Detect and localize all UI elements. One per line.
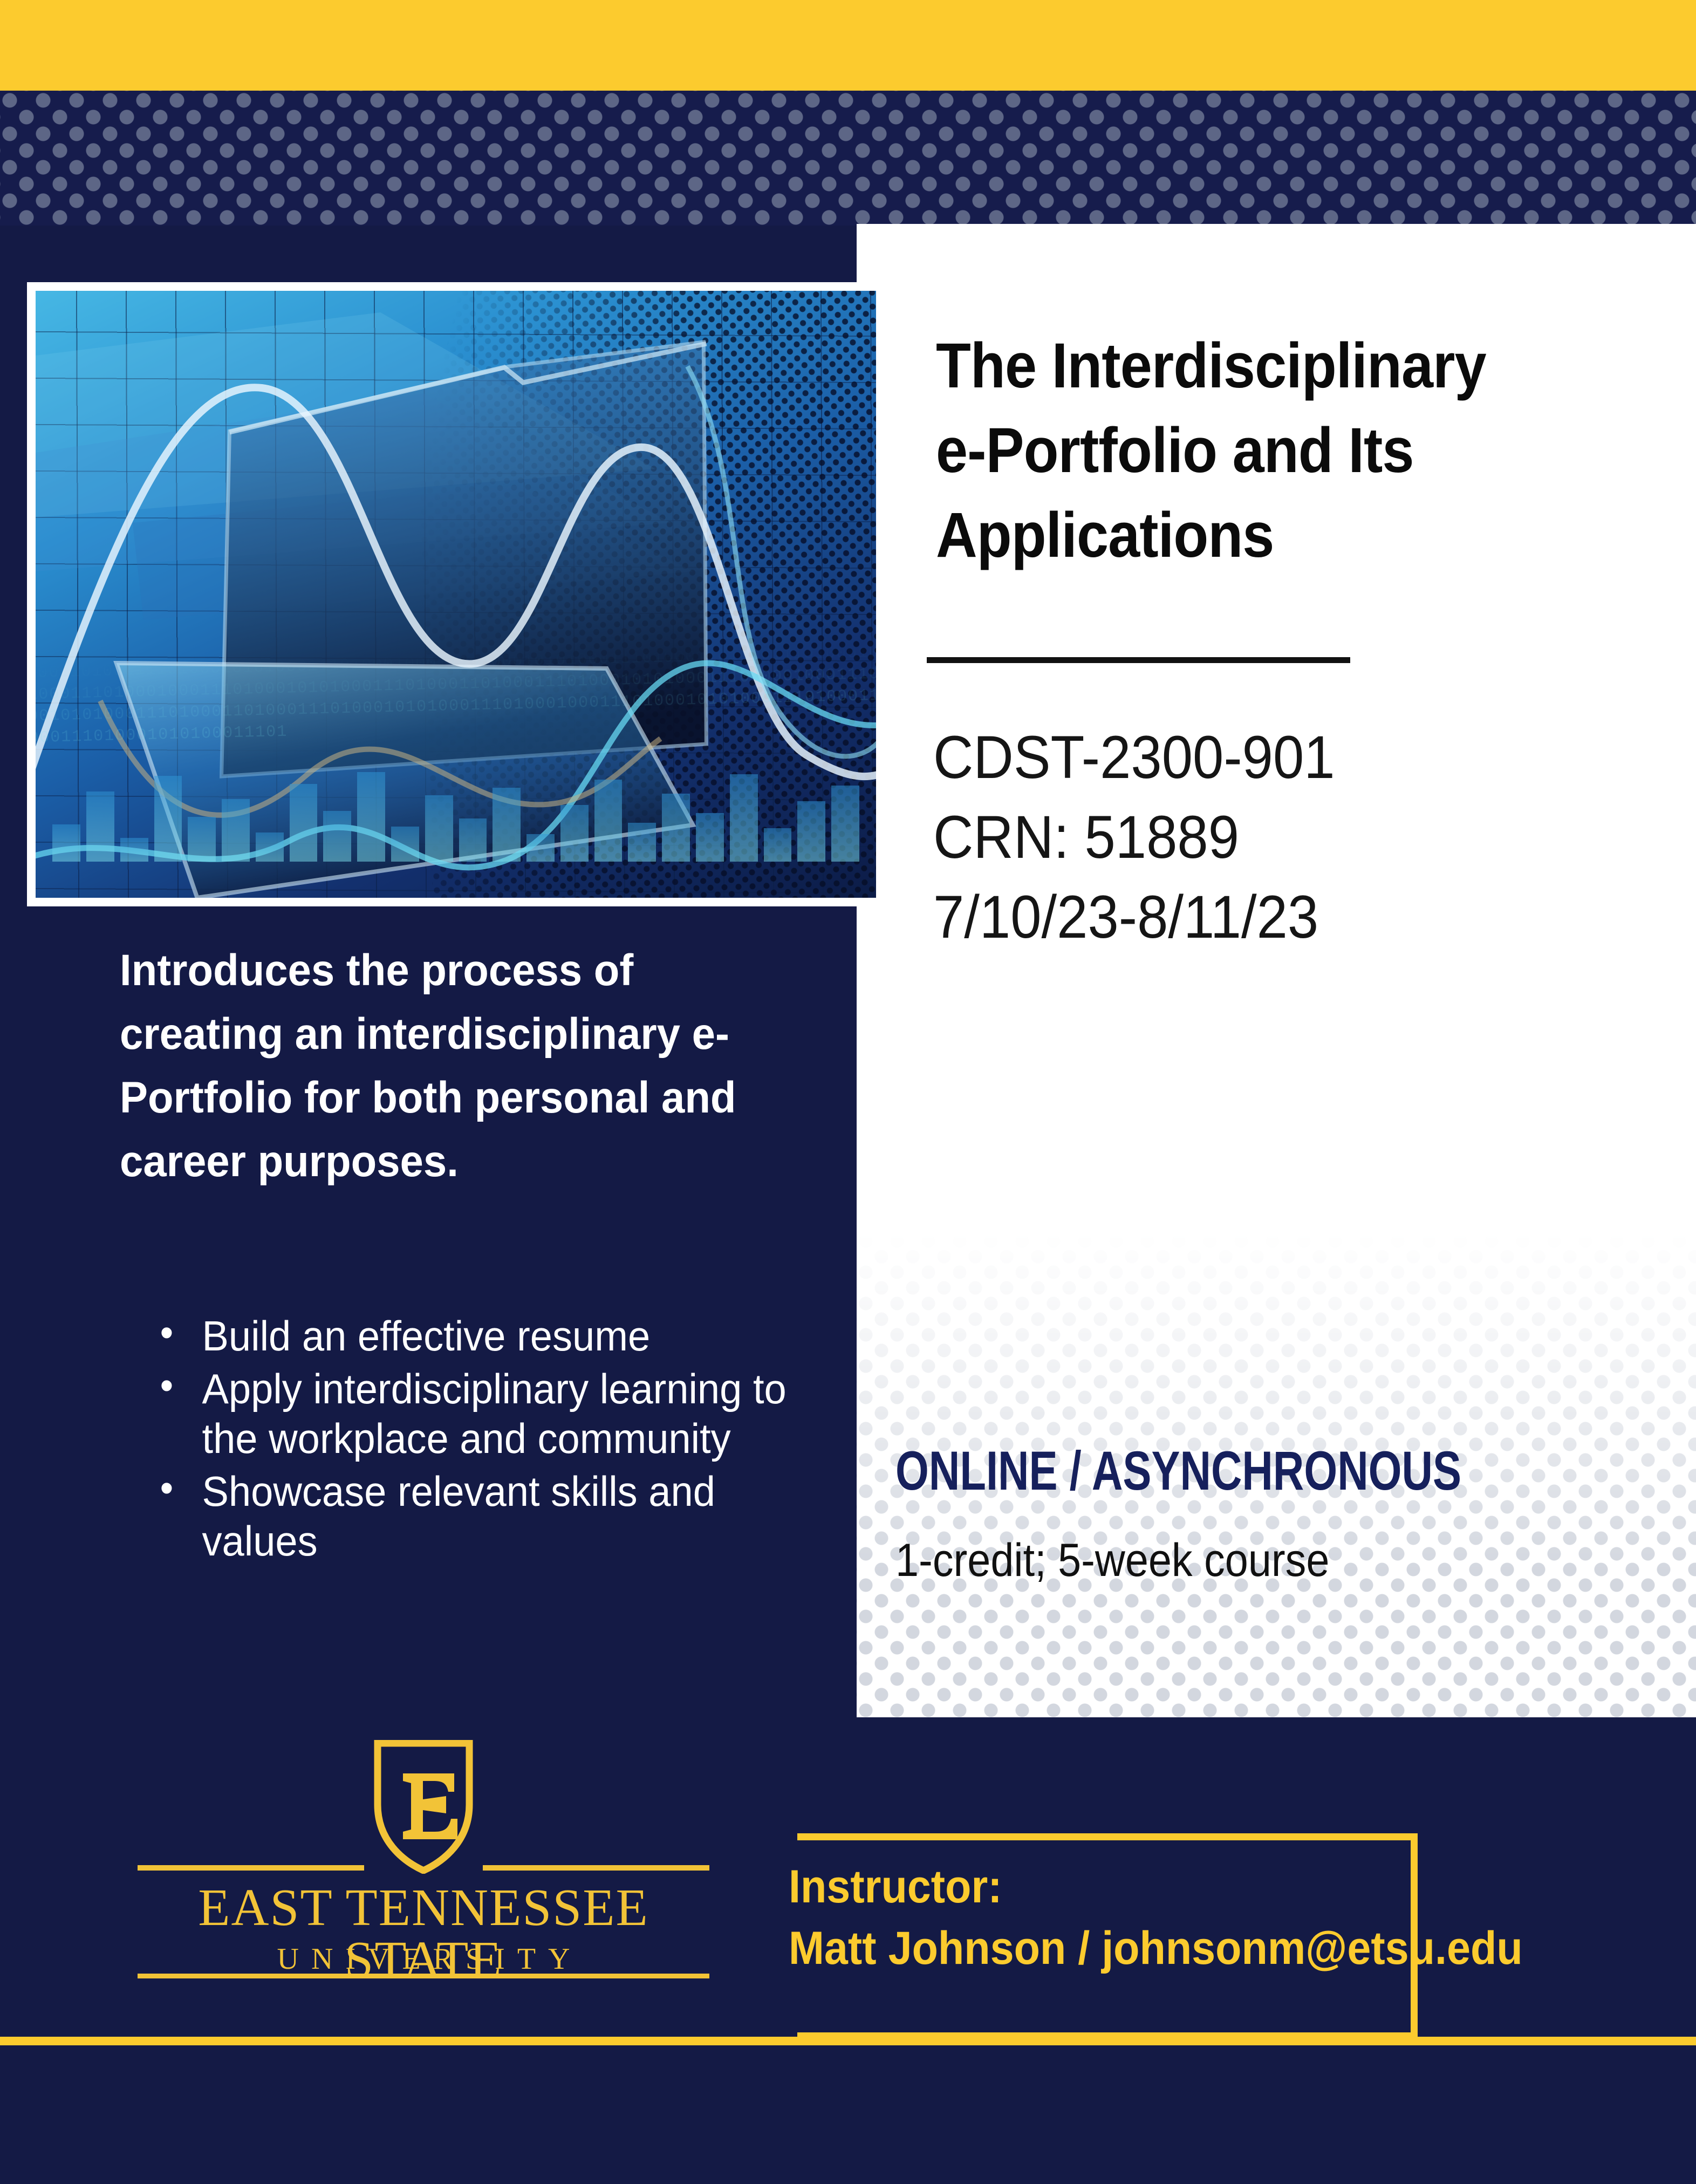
logo-rule-left <box>138 1865 364 1871</box>
delivery-mode: ONLINE / ASYNCHRONOUS <box>895 1443 1485 1498</box>
course-flyer: 1000110100111010001000111010001010100011… <box>0 0 1696 2184</box>
logo-university: UNIVERSITY <box>138 1944 709 1974</box>
delivery-details: 1-credit; 5-week course <box>895 1535 1575 1586</box>
logo-rule-right <box>483 1865 709 1871</box>
page-title: The Interdisciplinary e-Portfolio and It… <box>936 324 1548 578</box>
logo-rule-bottom <box>138 1974 709 1978</box>
course-dates: 7/10/23-8/11/23 <box>933 877 1578 957</box>
bottom-gold-line <box>0 2037 1696 2045</box>
list-item-label: Showcase relevant skills and values <box>202 1468 715 1565</box>
shield-icon <box>373 1740 474 1874</box>
hero-image-frame: 1000110100111010001000111010001010100011… <box>27 282 885 906</box>
bar-chart-texture <box>52 765 859 862</box>
hero-illustration: 1000110100111010001000111010001010100011… <box>36 291 876 898</box>
course-description: Introduces the process of creating an in… <box>120 939 796 1193</box>
course-meta-block: CDST-2300-901 CRN: 51889 7/10/23-8/11/23 <box>933 718 1578 957</box>
list-item: • Apply interdisciplinary learning to th… <box>146 1364 812 1463</box>
dotted-header-band <box>0 91 1696 226</box>
bullet-marker: • <box>160 1464 174 1511</box>
learning-outcomes-list: • Build an effective resume • Apply inte… <box>146 1311 812 1569</box>
bullet-marker: • <box>160 1362 174 1409</box>
list-item: • Showcase relevant skills and values <box>146 1466 812 1566</box>
course-code: CDST-2300-901 <box>933 718 1578 797</box>
bullet-marker: • <box>160 1309 174 1356</box>
list-item-label: Build an effective resume <box>202 1312 651 1360</box>
course-crn: CRN: 51889 <box>933 797 1578 877</box>
etsu-logo: EAST TENNESSEE STATE UNIVERSITY <box>138 1740 709 1972</box>
instructor-block: Instructor: Matt Johnson / johnsonm@etsu… <box>789 1856 1563 1980</box>
instructor-label: Instructor: <box>789 1856 1563 1917</box>
top-gold-band <box>0 0 1696 91</box>
list-item: • Build an effective resume <box>146 1311 812 1361</box>
list-item-label: Apply interdisciplinary learning to the … <box>202 1365 787 1462</box>
title-divider <box>927 657 1350 663</box>
instructor-value: Matt Johnson / johnsonm@etsu.edu <box>789 1917 1563 1979</box>
